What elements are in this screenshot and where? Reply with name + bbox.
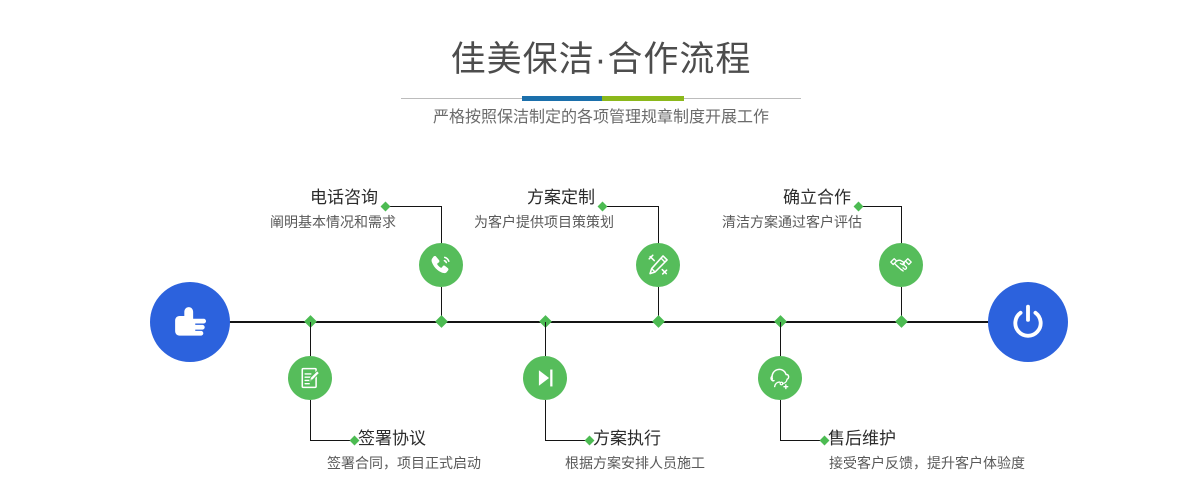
step-5-title: 确立合作 <box>660 187 851 209</box>
divider-segment-green <box>602 96 684 101</box>
phone-call-icon <box>428 252 454 278</box>
step-3-icon-bubble[interactable] <box>636 243 680 287</box>
step-4-desc: 根据方案安排人员施工 <box>565 453 705 473</box>
step-2-connector-vertical <box>310 400 311 440</box>
flow-end-marker <box>988 282 1068 362</box>
power-icon <box>1007 301 1049 343</box>
step-5-axis-diamond <box>895 315 908 328</box>
play-skip-icon <box>532 365 558 391</box>
step-4-title: 方案执行 <box>593 428 661 450</box>
pencil-ruler-icon <box>645 252 671 278</box>
page-subtitle: 严格按照保洁制定的各项管理规章制度开展工作 <box>0 106 1202 130</box>
step-2-connector-horizontal <box>310 440 354 441</box>
step-3-axis-diamond <box>652 315 665 328</box>
step-6-connector-upper <box>780 322 781 356</box>
header: 佳美保洁·合作流程 严格按照保洁制定的各项管理规章制度开展工作 <box>0 0 1202 150</box>
step-6-desc: 接受客户反馈，提升客户体验度 <box>829 453 1025 473</box>
step-3-desc: 为客户提供项目策策划 <box>380 212 614 232</box>
step-3-title: 方案定制 <box>400 187 595 209</box>
step-5-desc: 清洁方案通过客户评估 <box>630 212 862 232</box>
step-3-label-diamond <box>598 202 608 212</box>
step-2-icon-bubble[interactable] <box>288 356 332 400</box>
step-4-icon-bubble[interactable] <box>523 356 567 400</box>
step-1-axis-diamond <box>435 315 448 328</box>
headset-support-icon <box>767 365 793 391</box>
pointing-hand-icon <box>169 301 211 343</box>
step-5-icon-bubble[interactable] <box>879 243 923 287</box>
step-4-connector-upper <box>545 322 546 356</box>
step-3-connector-horizontal <box>605 206 659 207</box>
step-5-connector-vertical <box>901 206 902 246</box>
step-1-label-diamond <box>381 202 391 212</box>
step-4-connector-vertical <box>545 400 546 440</box>
step-2-desc: 签署合同，项目正式启动 <box>327 453 481 473</box>
step-6-connector-vertical <box>780 400 781 440</box>
title-divider <box>401 96 801 102</box>
handshake-icon <box>888 252 914 278</box>
page-title: 佳美保洁·合作流程 <box>0 38 1202 82</box>
process-flow-infographic: 佳美保洁·合作流程 严格按照保洁制定的各项管理规章制度开展工作 <box>0 0 1202 502</box>
step-1-desc: 阐明基本情况和需求 <box>140 212 396 232</box>
step-1-icon-bubble[interactable] <box>419 243 463 287</box>
step-6-icon-bubble[interactable] <box>758 356 802 400</box>
step-2-connector-upper <box>310 322 311 356</box>
document-pencil-icon <box>297 365 323 391</box>
step-6-connector-horizontal <box>780 440 824 441</box>
step-1-title: 电话咨询 <box>140 187 378 209</box>
step-6-title: 售后维护 <box>828 428 896 450</box>
flow-start-marker <box>150 282 230 362</box>
step-5-label-diamond <box>854 202 864 212</box>
step-4-connector-horizontal <box>545 440 589 441</box>
step-5-connector-horizontal <box>861 206 902 207</box>
divider-segment-blue <box>522 96 602 101</box>
step-2-title: 签署协议 <box>358 428 426 450</box>
